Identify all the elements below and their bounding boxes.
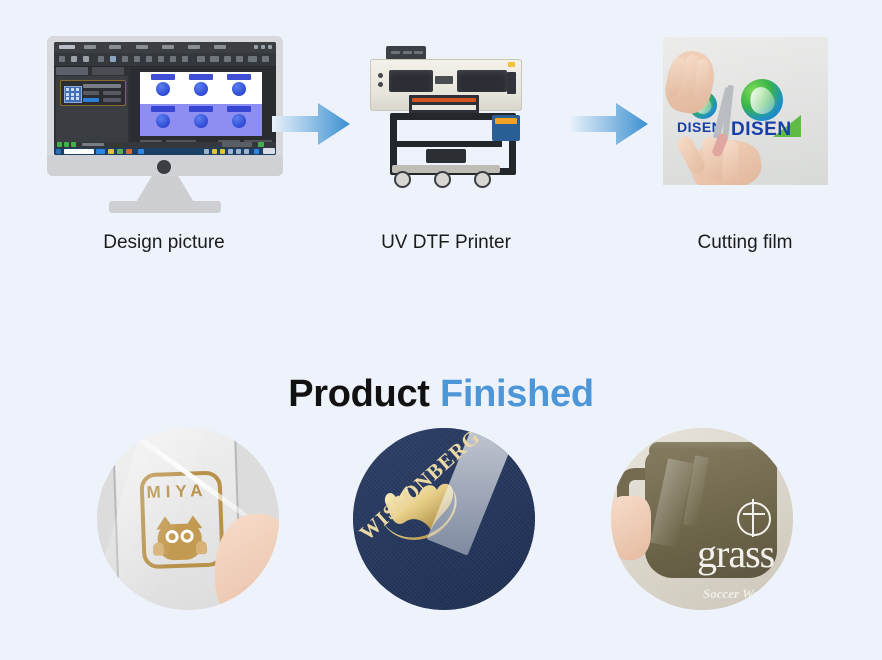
printer-caster-1 [394, 171, 411, 188]
monitor-body [47, 36, 283, 176]
process-row: DISEN DISEN Design picture UV DTF Printe… [0, 0, 882, 270]
monitor-base [109, 201, 221, 213]
printer-window-right [457, 70, 507, 92]
printer-under-module [426, 149, 466, 163]
design-canvas [140, 72, 262, 136]
uv-dtf-printer-image [368, 33, 524, 213]
page-title: Product Finished [0, 373, 882, 416]
printer-top-module [386, 46, 426, 60]
caption-design-picture: Design picture [64, 232, 264, 254]
software-tabs [56, 67, 126, 75]
printer-side-controller [492, 115, 520, 141]
printer-control-panel[interactable] [507, 72, 516, 94]
printer-caster-2 [434, 171, 451, 188]
job-card [60, 80, 126, 106]
monitor-neck [135, 176, 195, 204]
software-toolbar [54, 53, 276, 67]
mug-body: grass Soccer World [645, 450, 777, 578]
monitor-screen [54, 42, 276, 155]
printer-stand-crossbar [390, 141, 502, 147]
printer-caster-3 [474, 171, 491, 188]
design-picture-image [47, 36, 283, 212]
printer-yellow-marker [508, 62, 515, 67]
tab-active[interactable] [56, 67, 88, 75]
printer-logo-badge [435, 76, 453, 84]
grass-wordmark: grass [697, 530, 774, 577]
title-word-product: Product [288, 373, 429, 415]
title-word-finished: Finished [440, 373, 594, 415]
cutting-film-image: DISEN DISEN [663, 37, 828, 185]
disen-wordmark-large: DISEN [731, 119, 792, 141]
product-image-miya-film: MIYA [97, 428, 279, 610]
caption-uv-dtf-printer: UV DTF Printer [346, 232, 546, 254]
caption-cutting-film: Cutting film [645, 232, 845, 254]
arrow-2-icon [570, 100, 648, 148]
grid-icon [64, 86, 82, 103]
product-image-wissonberg-denim: WISSONBERG [353, 428, 535, 610]
finger-6 [722, 141, 739, 185]
monitor-power-dot [157, 160, 171, 174]
product-image-grass-mug: grass Soccer World [611, 428, 793, 610]
arrow-1-icon [272, 100, 350, 148]
software-taskbar [54, 148, 276, 155]
printer-print-head-rail [409, 95, 479, 115]
software-menubar [54, 42, 276, 53]
tab-secondary[interactable] [92, 67, 124, 75]
page-root: DISEN DISEN Design picture UV DTF Printe… [0, 0, 882, 660]
soccer-world-text: Soccer World [703, 586, 774, 602]
printer-indicator-leds [378, 73, 384, 89]
printer-window-left [389, 70, 433, 92]
hand-holding-mug [611, 496, 651, 560]
disen-globe-large-icon [741, 79, 783, 121]
